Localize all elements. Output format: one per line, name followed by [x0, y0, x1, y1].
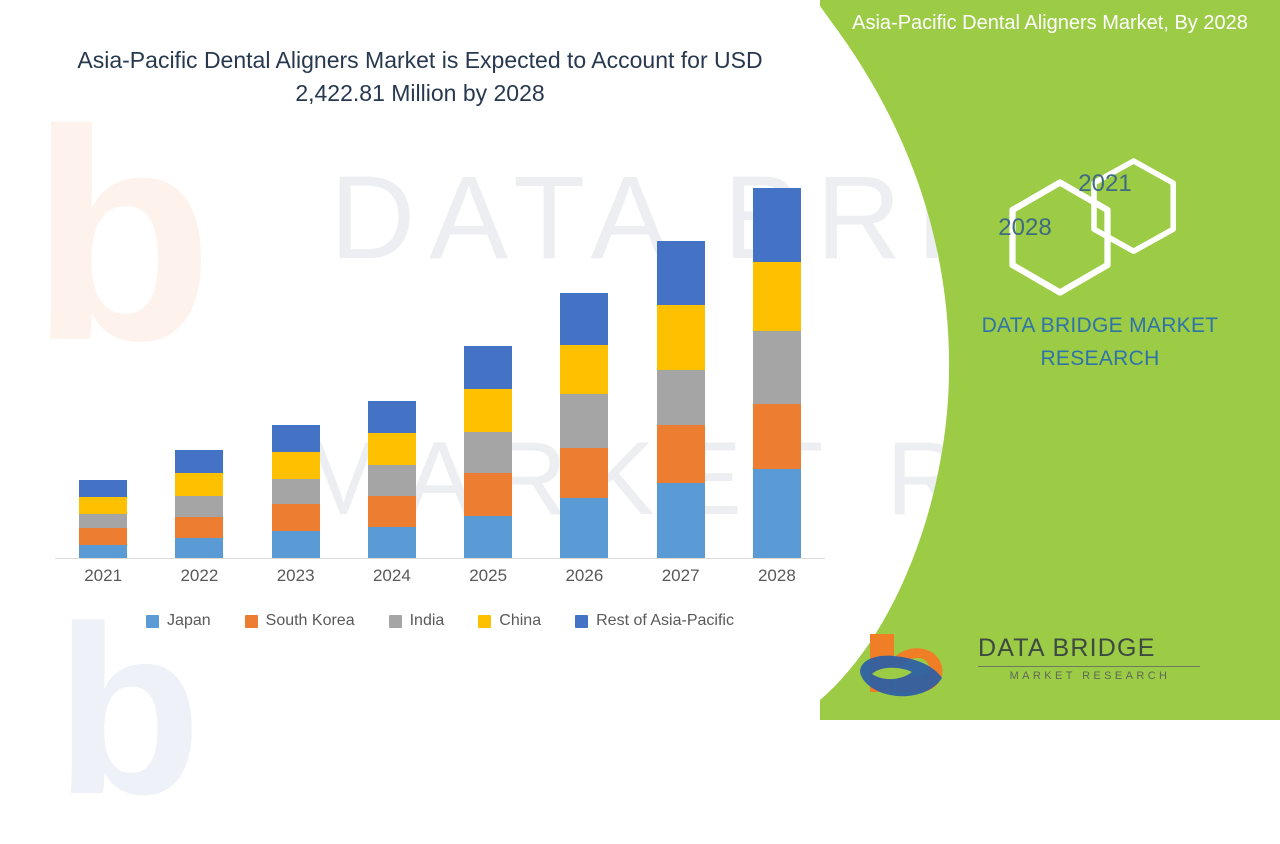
bar-segment-south-korea: [175, 517, 223, 538]
bar-segment-japan: [657, 483, 705, 558]
bar-column-2027: [633, 170, 729, 558]
bar-column-2026: [536, 170, 632, 558]
bar-segment-south-korea: [464, 473, 512, 516]
bar-segment-china: [368, 433, 416, 465]
hexagon-2028-label: 2028: [970, 214, 1080, 242]
bar-segment-china: [753, 262, 801, 331]
bar-segment-china: [175, 473, 223, 496]
bar-segment-south-korea: [79, 528, 127, 545]
bar-segment-japan: [368, 527, 416, 558]
brand-panel-content: Asia-Pacific Dental Aligners Market, By …: [820, 0, 1280, 720]
legend-swatch-icon: [389, 615, 402, 628]
bar-segment-japan: [464, 516, 512, 558]
bar-segment-japan: [753, 469, 801, 558]
bar-segment-india: [657, 370, 705, 425]
brand-panel: Asia-Pacific Dental Aligners Market, By …: [820, 0, 1280, 720]
x-axis-label-2021: 2021: [55, 566, 151, 602]
bar-segment-india: [79, 514, 127, 528]
bar-segment-rest-of-asia-pacific: [79, 480, 127, 497]
hexagon-2021-label: 2021: [1050, 170, 1160, 198]
logo-subtitle: MARKET RESEARCH: [978, 670, 1202, 682]
bar-segment-china: [272, 452, 320, 479]
bar-column-2022: [151, 170, 247, 558]
bar-segment-japan: [560, 498, 608, 558]
bar-segment-india: [464, 432, 512, 473]
legend-swatch-icon: [146, 615, 159, 628]
bar-segment-rest-of-asia-pacific: [175, 450, 223, 473]
logo-divider: [978, 666, 1200, 667]
stacked-bar: [175, 450, 223, 558]
panel-title: Asia-Pacific Dental Aligners Market, By …: [842, 8, 1258, 39]
bar-segment-rest-of-asia-pacific: [657, 241, 705, 305]
chart-legend: JapanSouth KoreaIndiaChinaRest of Asia-P…: [55, 612, 825, 630]
logo-title: DATA BRIDGE: [978, 634, 1156, 663]
bar-segment-india: [175, 496, 223, 517]
x-axis-label-2028: 2028: [729, 566, 825, 602]
stacked-bar: [753, 188, 801, 558]
stacked-bar: [79, 480, 127, 558]
legend-swatch-icon: [245, 615, 258, 628]
bar-segment-rest-of-asia-pacific: [368, 401, 416, 433]
legend-item-south-korea[interactable]: South Korea: [245, 612, 355, 630]
bar-column-2025: [440, 170, 536, 558]
bar-segment-japan: [79, 545, 127, 558]
bar-segment-china: [657, 305, 705, 370]
legend-label: China: [499, 612, 541, 630]
stacked-bar: [560, 293, 608, 558]
bar-segment-rest-of-asia-pacific: [753, 188, 801, 262]
bar-segment-south-korea: [560, 448, 608, 498]
bar-column-2021: [55, 170, 151, 558]
bar-segment-india: [753, 331, 801, 404]
bar-segment-south-korea: [368, 496, 416, 527]
x-axis-label-2023: 2023: [248, 566, 344, 602]
stacked-bar-plot-area: [55, 170, 825, 558]
legend-item-rest-of-asia-pacific[interactable]: Rest of Asia-Pacific: [575, 612, 734, 630]
x-axis-label-2026: 2026: [536, 566, 632, 602]
x-axis-label-2022: 2022: [151, 566, 247, 602]
bar-segment-china: [560, 345, 608, 394]
legend-item-china[interactable]: China: [478, 612, 541, 630]
stacked-bar: [368, 401, 416, 558]
bar-segment-rest-of-asia-pacific: [464, 346, 512, 389]
bar-segment-china: [464, 389, 512, 432]
bar-segment-india: [560, 394, 608, 448]
bar-segment-south-korea: [753, 404, 801, 469]
legend-item-india[interactable]: India: [389, 612, 445, 630]
bar-segment-rest-of-asia-pacific: [560, 293, 608, 345]
x-axis-line: [55, 558, 825, 559]
legend-label: India: [410, 612, 445, 630]
x-axis-label-2027: 2027: [633, 566, 729, 602]
bar-column-2023: [248, 170, 344, 558]
bar-segment-south-korea: [272, 504, 320, 531]
bar-segment-south-korea: [657, 425, 705, 483]
x-axis-label-2025: 2025: [440, 566, 536, 602]
stacked-bar: [464, 346, 512, 558]
legend-swatch-icon: [575, 615, 588, 628]
bar-column-2028: [729, 170, 825, 558]
bar-segment-japan: [272, 531, 320, 558]
x-axis-labels: 20212022202320242025202620272028: [55, 566, 825, 602]
legend-label: Japan: [167, 612, 211, 630]
bar-segment-india: [368, 465, 416, 496]
company-logo: DATA BRIDGE MARKET RESEARCH: [850, 628, 1250, 704]
x-axis-label-2024: 2024: [344, 566, 440, 602]
bar-segment-rest-of-asia-pacific: [272, 425, 320, 452]
bar-segment-china: [79, 497, 127, 514]
legend-swatch-icon: [478, 615, 491, 628]
brand-research-name: DATA BRIDGE MARKET RESEARCH: [940, 310, 1260, 375]
stacked-bar: [272, 425, 320, 558]
legend-label: Rest of Asia-Pacific: [596, 612, 734, 630]
logo-mark-icon: [850, 628, 970, 704]
legend-item-japan[interactable]: Japan: [146, 612, 211, 630]
bar-segment-india: [272, 479, 320, 504]
legend-label: South Korea: [266, 612, 355, 630]
chart-title: Asia-Pacific Dental Aligners Market is E…: [40, 44, 800, 109]
stacked-bar: [657, 241, 705, 558]
bar-segment-japan: [175, 538, 223, 558]
bar-column-2024: [344, 170, 440, 558]
chart-panel: Asia-Pacific Dental Aligners Market is E…: [0, 0, 870, 720]
